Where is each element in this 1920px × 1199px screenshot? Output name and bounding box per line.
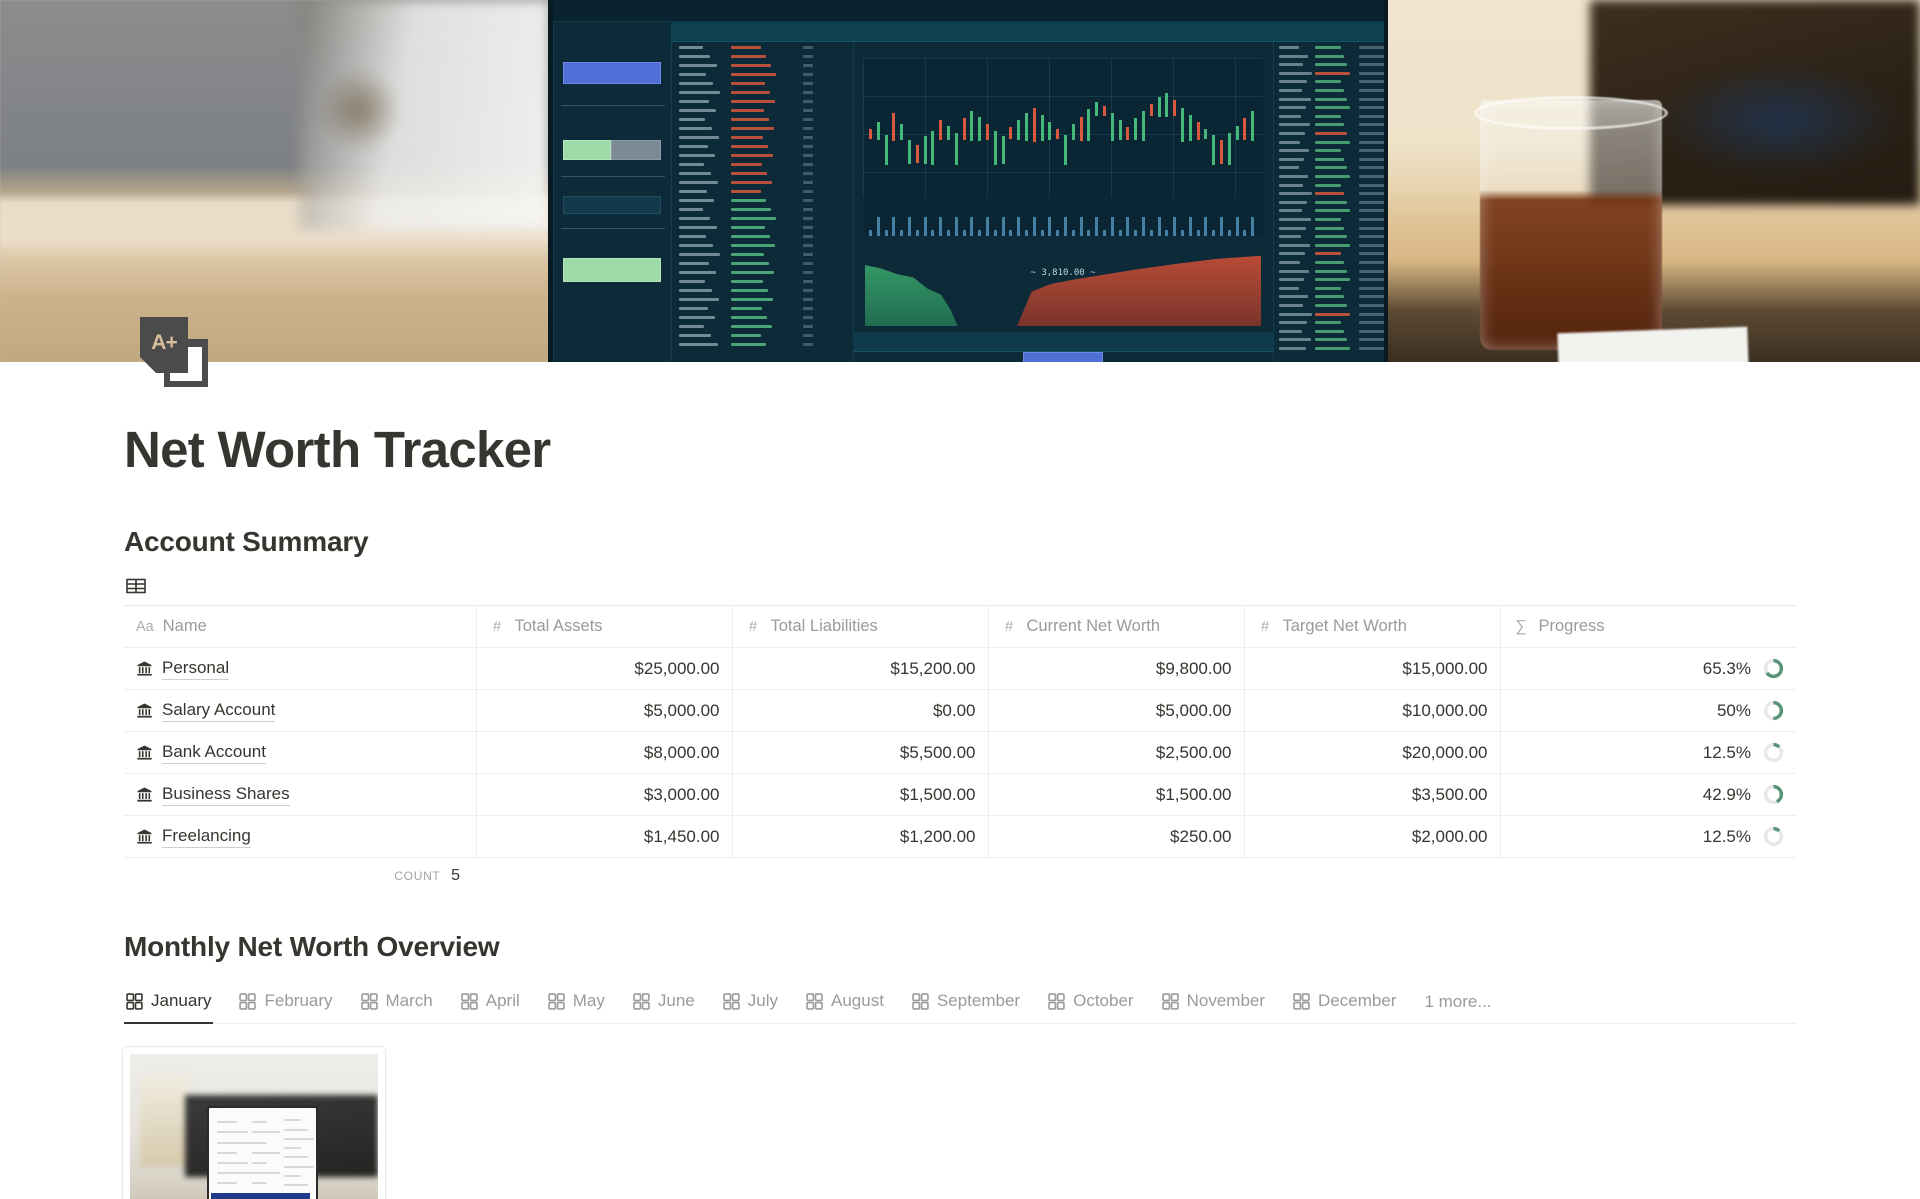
gallery-view-icon (1293, 993, 1310, 1010)
column-header-progress[interactable]: ∑Progress (1500, 606, 1796, 648)
table-row[interactable]: Business Shares$3,000.00$1,500.00$1,500.… (124, 774, 1796, 816)
table-row[interactable]: Salary Account$5,000.00$0.00$5,000.00$10… (124, 690, 1796, 732)
row-name-link[interactable]: Freelancing (162, 826, 251, 848)
column-header-current-net-worth[interactable]: #Current Net Worth (988, 606, 1244, 648)
cell-total-liabilities[interactable]: $1,200.00 (732, 816, 988, 858)
table-grid-icon (126, 578, 146, 594)
column-header-label: Target Net Worth (1283, 617, 1407, 636)
count-label: COUNT (394, 869, 440, 883)
cell-progress[interactable]: 12.5% (1500, 732, 1796, 774)
open-orders-header (853, 332, 1273, 352)
column-header-label: Current Net Worth (1027, 617, 1161, 636)
bank-icon (136, 702, 153, 719)
gallery-card-image (130, 1054, 378, 1199)
hero-counter-and-jar (1388, 0, 1920, 362)
cell-current-net-worth[interactable]: $1,500.00 (988, 774, 1244, 816)
trading-topbar (553, 0, 1384, 22)
month-tabs[interactable]: JanuaryFebruaryMarchAprilMayJuneJulyAugu… (124, 987, 1796, 1024)
row-name-link[interactable]: Business Shares (162, 784, 290, 806)
trade-history-header (1273, 22, 1384, 42)
gallery-view-icon (723, 993, 740, 1010)
hero-cafe-interior-blur (0, 0, 548, 362)
cell-progress[interactable]: 12.5% (1500, 816, 1796, 858)
cell-name[interactable]: Freelancing (124, 816, 476, 858)
column-header-name[interactable]: AaName (124, 606, 476, 648)
tab-october[interactable]: October (1046, 987, 1135, 1024)
tab-label: December (1318, 991, 1396, 1011)
cell-target-net-worth[interactable]: $15,000.00 (1244, 648, 1500, 690)
page-title: Net Worth Tracker (124, 422, 1920, 478)
cell-target-net-worth[interactable]: $3,500.00 (1244, 774, 1500, 816)
progress-percent-label: 50% (1717, 701, 1751, 721)
progress-ring (1763, 700, 1784, 721)
tab-label: March (386, 991, 433, 1011)
number-type-icon: # (745, 618, 762, 635)
cell-current-net-worth[interactable]: $2,500.00 (988, 732, 1244, 774)
count-value: 5 (451, 867, 460, 884)
tab-label: April (486, 991, 520, 1011)
progress-ring (1763, 658, 1784, 679)
table-header-row: AaName#Total Assets#Total Liabilities#Cu… (124, 606, 1796, 648)
gallery-view-icon (1162, 993, 1179, 1010)
price-chart-header (853, 22, 1273, 42)
column-header-total-liabilities[interactable]: #Total Liabilities (732, 606, 988, 648)
volume-chart (863, 198, 1263, 236)
cell-current-net-worth[interactable]: $9,800.00 (988, 648, 1244, 690)
column-header-target-net-worth[interactable]: #Target Net Worth (1244, 606, 1500, 648)
cell-name[interactable]: Personal (124, 648, 476, 690)
cell-progress[interactable]: 50% (1500, 690, 1796, 732)
tab-label: January (151, 991, 211, 1011)
mason-jar (1480, 100, 1662, 350)
number-type-icon: # (1257, 618, 1274, 635)
gallery-card[interactable] (122, 1046, 386, 1199)
monthly-overview-heading: Monthly Net Worth Overview (124, 931, 1920, 963)
gallery-view-icon (126, 993, 143, 1010)
gallery-view-icon (361, 993, 378, 1010)
tab-label: June (658, 991, 695, 1011)
cell-name[interactable]: Bank Account (124, 732, 476, 774)
cell-target-net-worth[interactable]: $2,000.00 (1244, 816, 1500, 858)
place-order-button (563, 258, 661, 282)
progress-ring (1763, 826, 1784, 847)
table-header: AaName#Total Assets#Total Liabilities#Cu… (124, 606, 1796, 648)
tab-august[interactable]: August (804, 987, 886, 1024)
amount-field (563, 196, 661, 214)
mid-market-price-label: ~ 3,810.00 ~ (973, 268, 1153, 278)
tab-july[interactable]: July (721, 987, 780, 1024)
get-started-button-bottom (1023, 352, 1103, 362)
table-row[interactable]: Freelancing$1,450.00$1,200.00$250.00$2,0… (124, 816, 1796, 858)
page-content: Net Worth Tracker Account Summary AaName… (0, 422, 1920, 1199)
column-header-total-assets[interactable]: #Total Assets (476, 606, 732, 648)
row-name-link[interactable]: Salary Account (162, 700, 275, 722)
cell-current-net-worth[interactable]: $250.00 (988, 816, 1244, 858)
count-cell[interactable]: COUNT 5 (124, 867, 476, 885)
table-row[interactable]: Bank Account$8,000.00$5,500.00$2,500.00$… (124, 732, 1796, 774)
buy-button (563, 140, 611, 160)
gallery-view-icon (548, 993, 565, 1010)
order-book-header (671, 22, 853, 42)
number-type-icon: # (1001, 618, 1018, 635)
tab-label: May (573, 991, 605, 1011)
cell-target-net-worth[interactable]: $10,000.00 (1244, 690, 1500, 732)
cell-progress[interactable]: 65.3% (1500, 648, 1796, 690)
row-name-link[interactable]: Bank Account (162, 742, 266, 764)
tab-label: September (937, 991, 1020, 1011)
cell-progress[interactable]: 42.9% (1500, 774, 1796, 816)
tab-label: August (831, 991, 884, 1011)
cell-total-assets[interactable]: $8,000.00 (476, 732, 732, 774)
progress-percent-label: 12.5% (1703, 743, 1751, 763)
gallery-cards[interactable] (122, 1046, 1920, 1199)
tab-june[interactable]: June (631, 987, 697, 1024)
hero-photo: ~ 3,810.00 ~ (0, 0, 1920, 362)
bank-icon (136, 786, 153, 803)
gallery-view-icon (806, 993, 823, 1010)
tab-label: July (748, 991, 778, 1011)
tab-february[interactable]: February (237, 987, 334, 1024)
gallery-view-icon (633, 993, 650, 1010)
tab-label: October (1073, 991, 1133, 1011)
cell-total-liabilities[interactable]: $1,500.00 (732, 774, 988, 816)
table-footer-count-row: COUNT 5 (124, 867, 1796, 885)
cell-total-assets[interactable]: $1,450.00 (476, 816, 732, 858)
tab-december[interactable]: December (1291, 987, 1398, 1024)
hero-banner: ~ 3,810.00 ~ (0, 0, 1920, 362)
page-document-icon[interactable]: A+ (140, 317, 208, 387)
progress-ring (1763, 784, 1784, 805)
tabs-more-button[interactable]: 1 more... (1422, 988, 1493, 1023)
bank-icon (136, 828, 153, 845)
account-summary-block-icon-row (126, 578, 1920, 594)
gallery-view-icon (461, 993, 478, 1010)
trading-sidebar-title (557, 28, 665, 48)
tab-may[interactable]: May (546, 987, 607, 1024)
column-header-label: Name (163, 617, 207, 636)
cell-current-net-worth[interactable]: $5,000.00 (988, 690, 1244, 732)
number-type-icon: # (489, 618, 506, 635)
table-body[interactable]: Personal$25,000.00$15,200.00$9,800.00$15… (124, 648, 1796, 858)
row-name-link[interactable]: Personal (162, 658, 229, 680)
tab-january[interactable]: January (124, 987, 213, 1024)
gallery-view-icon (912, 993, 929, 1010)
cell-total-assets[interactable]: $3,000.00 (476, 774, 732, 816)
text-type-icon: Aa (136, 619, 154, 635)
bank-icon (136, 744, 153, 761)
cell-total-liabilities[interactable]: $15,200.00 (732, 648, 988, 690)
cell-total-liabilities[interactable]: $5,500.00 (732, 732, 988, 774)
cell-total-assets[interactable]: $25,000.00 (476, 648, 732, 690)
formula-type-icon: ∑ (1513, 618, 1530, 636)
tab-label: February (264, 991, 332, 1011)
cell-name[interactable]: Salary Account (124, 690, 476, 732)
progress-percent-label: 65.3% (1703, 659, 1751, 679)
cell-total-assets[interactable]: $5,000.00 (476, 690, 732, 732)
progress-ring (1763, 742, 1784, 763)
tab-september[interactable]: September (910, 987, 1022, 1024)
progress-percent-label: 12.5% (1703, 827, 1751, 847)
account-summary-table[interactable]: AaName#Total Assets#Total Liabilities#Cu… (124, 605, 1796, 858)
white-card-on-counter (1557, 327, 1748, 362)
tab-april[interactable]: April (459, 987, 522, 1024)
account-summary-heading: Account Summary (124, 526, 1920, 558)
cell-name[interactable]: Business Shares (124, 774, 476, 816)
tab-label: November (1187, 991, 1265, 1011)
cell-total-liabilities[interactable]: $0.00 (732, 690, 988, 732)
gallery-view-icon (239, 993, 256, 1010)
get-started-button-top (563, 62, 661, 84)
tab-november[interactable]: November (1160, 987, 1267, 1024)
cell-target-net-worth[interactable]: $20,000.00 (1244, 732, 1500, 774)
progress-percent-label: 42.9% (1703, 785, 1751, 805)
doc-icon-label: A+ (140, 317, 188, 369)
divider (561, 105, 665, 106)
tab-march[interactable]: March (359, 987, 435, 1024)
mason-jar-rim (1474, 96, 1668, 130)
column-header-label: Progress (1539, 617, 1605, 636)
column-header-label: Total Liabilities (771, 617, 878, 636)
hero-trading-monitor: ~ 3,810.00 ~ (548, 0, 1388, 362)
divider (561, 228, 665, 229)
candlestick-chart (863, 58, 1263, 198)
column-header-label: Total Assets (515, 617, 603, 636)
gallery-view-icon (1048, 993, 1065, 1010)
divider (561, 176, 665, 177)
sell-button (611, 140, 661, 160)
bank-icon (136, 660, 153, 677)
table-row[interactable]: Personal$25,000.00$15,200.00$9,800.00$15… (124, 648, 1796, 690)
